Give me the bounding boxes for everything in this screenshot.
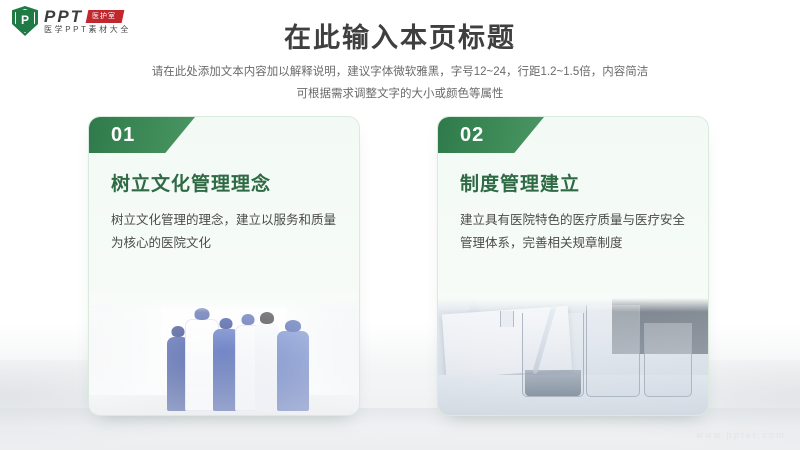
page-subtitle: 请在此处添加文本内容加以解释说明，建议字体微软雅黑，字号12~24，行距1.2~… (100, 62, 700, 106)
card-body-02: 建立具有医院特色的医疗质量与医疗安全管理体系，完善相关规章制度 (460, 209, 688, 255)
lab-highlight (438, 298, 708, 415)
card-heading-02: 制度管理建立 (460, 169, 692, 196)
card-number-tab-02: 02 (438, 117, 544, 153)
site-watermark: www.ppter.com (696, 430, 786, 440)
card-heading-01: 树立文化管理理念 (111, 169, 343, 196)
card-body-01: 树立文化管理的理念，建立以服务和质量为核心的医院文化 (111, 209, 339, 255)
corridor-photo (89, 298, 359, 415)
lab-glassware-photo (438, 298, 708, 415)
card-number-01: 01 (111, 125, 135, 145)
card-photo-02 (438, 298, 708, 415)
content-card-01[interactable]: 01 树立文化管理理念 树立文化管理的理念，建立以服务和质量为核心的医院文化 (88, 116, 360, 416)
content-card-02[interactable]: 02 制度管理建立 建立具有医院特色的医疗质量与医疗安全管理体系，完善相关规章制… (437, 116, 709, 416)
page-title: 在此输入本页标题 (0, 16, 800, 55)
subtitle-line-1: 请在此处添加文本内容加以解释说明，建议字体微软雅黑，字号12~24，行距1.2~… (100, 62, 700, 84)
card-number-02: 02 (460, 125, 484, 145)
corridor-haze (89, 298, 359, 415)
card-number-tab-01: 01 (89, 117, 195, 153)
card-photo-01 (89, 298, 359, 415)
subtitle-line-2: 可根据需求调整文字的大小或颜色等属性 (100, 84, 700, 106)
